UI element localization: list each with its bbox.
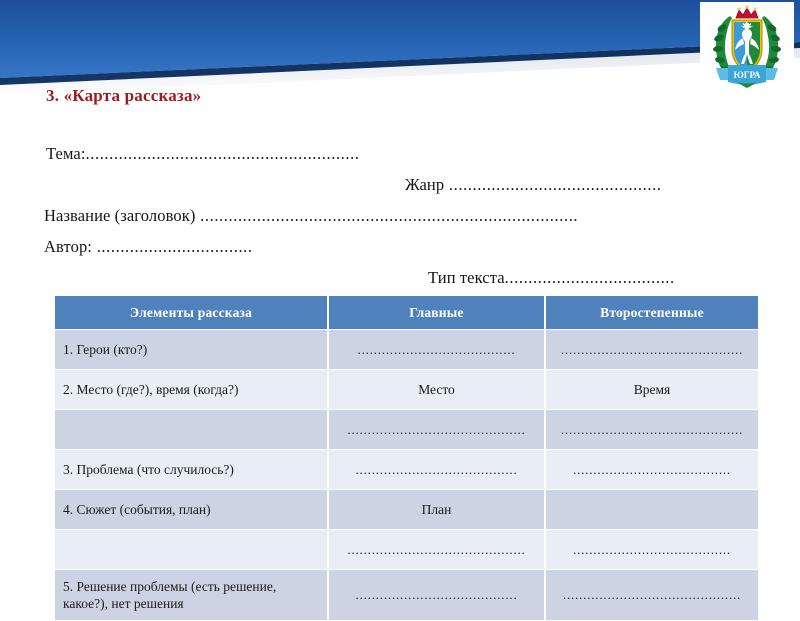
zhanr-blank-line[interactable]: ........................................… [444,175,661,194]
zhanr-label: Жанр [405,175,444,194]
blank-dotted-line[interactable]: ....................................... [573,542,731,557]
blank-dotted-line[interactable]: ........................................… [347,542,525,557]
table-cell-main[interactable]: Место [329,370,544,409]
blank-dotted-line[interactable]: ........................................… [561,342,743,357]
table-cell-element[interactable] [55,530,327,569]
tip-teksta-label: Тип текста [428,268,505,287]
table-body: 1. Герои (кто?).........................… [55,330,758,620]
table-header: Элементы рассказа Главные Второстепенные [55,296,758,329]
table-row: 5. Решение проблемы (есть решение, какое… [55,570,758,620]
column-header-secondary[interactable]: Второстепенные [546,296,758,329]
avtor-label: Автор: [44,237,92,256]
story-map-table: Элементы рассказа Главные Второстепенные… [53,295,760,621]
field-tema: Тема:...................................… [0,138,800,169]
blank-dotted-line[interactable]: ....................................... [358,342,516,357]
tema-blank-line[interactable]: ........................................… [86,144,360,163]
page-title: 3. «Карта рассказа» [46,86,201,106]
top-banner [0,0,800,92]
table-cell-secondary[interactable]: ........................................… [546,330,758,369]
table-cell-secondary[interactable]: ........................................… [546,570,758,620]
field-zhanr: Жанр ...................................… [0,169,800,200]
table-row: 4. Сюжет (события, план)План [55,490,758,529]
blank-dotted-line[interactable]: ........................................… [561,422,743,437]
table-cell-element[interactable]: 5. Решение проблемы (есть решение, какое… [55,570,327,620]
table-cell-element[interactable]: 1. Герои (кто?) [55,330,327,369]
table-cell-secondary[interactable]: Время [546,370,758,409]
table-row: 1. Герои (кто?).........................… [55,330,758,369]
table-cell-main[interactable]: ....................................... [329,330,544,369]
blank-dotted-line[interactable]: ....................................... [573,462,731,477]
blank-dotted-line[interactable]: ........................................ [356,462,518,477]
table-cell-main[interactable]: ........................................ [329,570,544,620]
story-map-form: Тема:...................................… [0,138,800,293]
table-cell-main[interactable]: ........................................ [329,450,544,489]
blank-dotted-line[interactable]: ........................................… [347,422,525,437]
table-cell-secondary[interactable] [546,490,758,529]
table-row: ........................................… [55,530,758,569]
table-cell-element[interactable]: 2. Место (где?), время (когда?) [55,370,327,409]
column-header-elements[interactable]: Элементы рассказа [55,296,327,329]
table-cell-secondary[interactable]: ....................................... [546,530,758,569]
tip-teksta-blank-line[interactable]: .................................... [505,268,675,287]
nazvanie-label: Название (заголовок) [44,206,195,225]
table-row: 3. Проблема (что случилось?)............… [55,450,758,489]
table-cell-element[interactable] [55,410,327,449]
table-row: 2. Место (где?), время (когда?)МестоВрем… [55,370,758,409]
tema-label: Тема: [46,144,86,163]
table-cell-element[interactable]: 4. Сюжет (события, план) [55,490,327,529]
table-cell-main[interactable]: ........................................… [329,410,544,449]
field-nazvanie: Название (заголовок) ...................… [0,200,800,231]
table-row: ........................................… [55,410,758,449]
table-cell-main[interactable]: План [329,490,544,529]
field-tip-teksta: Тип текста..............................… [0,262,800,293]
coat-of-arms-yugra-icon: ЮГРА [700,2,794,90]
column-header-main[interactable]: Главные [329,296,544,329]
table-header-row: Элементы рассказа Главные Второстепенные [55,296,758,329]
table-cell-secondary[interactable]: ........................................… [546,410,758,449]
field-avtor: Автор: ................................. [0,231,800,262]
table-cell-element[interactable]: 3. Проблема (что случилось?) [55,450,327,489]
table-cell-secondary[interactable]: ....................................... [546,450,758,489]
emblem-motto-text: ЮГРА [734,70,761,80]
table-cell-main[interactable]: ........................................… [329,530,544,569]
nazvanie-blank-line[interactable]: ........................................… [195,206,578,225]
avtor-blank-line[interactable]: ................................. [92,237,253,256]
